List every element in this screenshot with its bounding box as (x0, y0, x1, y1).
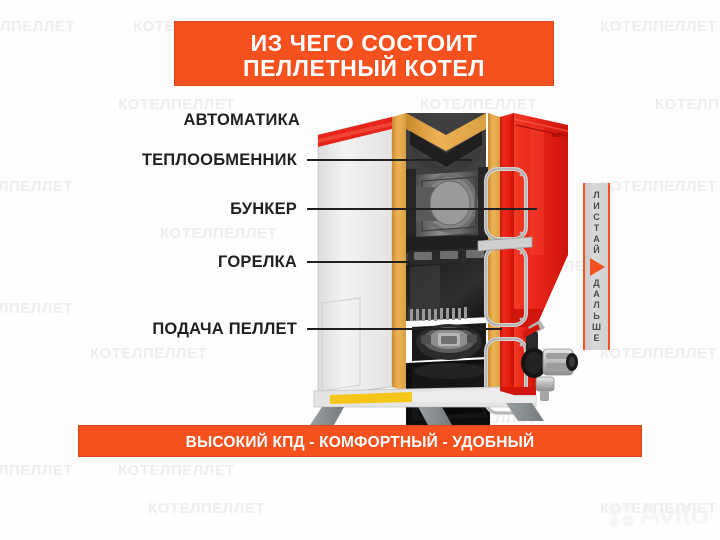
callout-label: ТЕПЛООБМЕННИК (0, 151, 297, 170)
callout-label: БУНКЕР (0, 200, 297, 219)
leader-line (307, 208, 537, 210)
callout-podacha-pellet: ПОДАЧА ПЕЛЛЕТ (0, 318, 510, 340)
callout-label: АВТОМАТИКА (184, 111, 300, 130)
infographic-page: КОТЕЛПЕЛЛЕТ КОТЕЛПЕЛЛЕТ КОТЕЛПЕЛЛЕТ КОТЕ… (0, 0, 720, 540)
callout-label: ПОДАЧА ПЕЛЛЕТ (0, 320, 297, 339)
leader-line (307, 328, 502, 330)
callout-teploobmennik: ТЕПЛООБМЕННИК (0, 149, 480, 171)
leader-line (307, 159, 472, 161)
callout-gorelka: ГОРЕЛКА (0, 251, 420, 273)
callout-label: ГОРЕЛКА (0, 253, 297, 272)
leader-line-vertical (408, 261, 410, 307)
leader-line (307, 261, 410, 263)
callout-bunker: БУНКЕР (0, 198, 545, 220)
callout-layer: АВТОМАТИКА ТЕПЛООБМЕННИК БУНКЕР ГОРЕЛКА … (0, 0, 720, 540)
callout-automatika: АВТОМАТИКА (0, 109, 300, 131)
